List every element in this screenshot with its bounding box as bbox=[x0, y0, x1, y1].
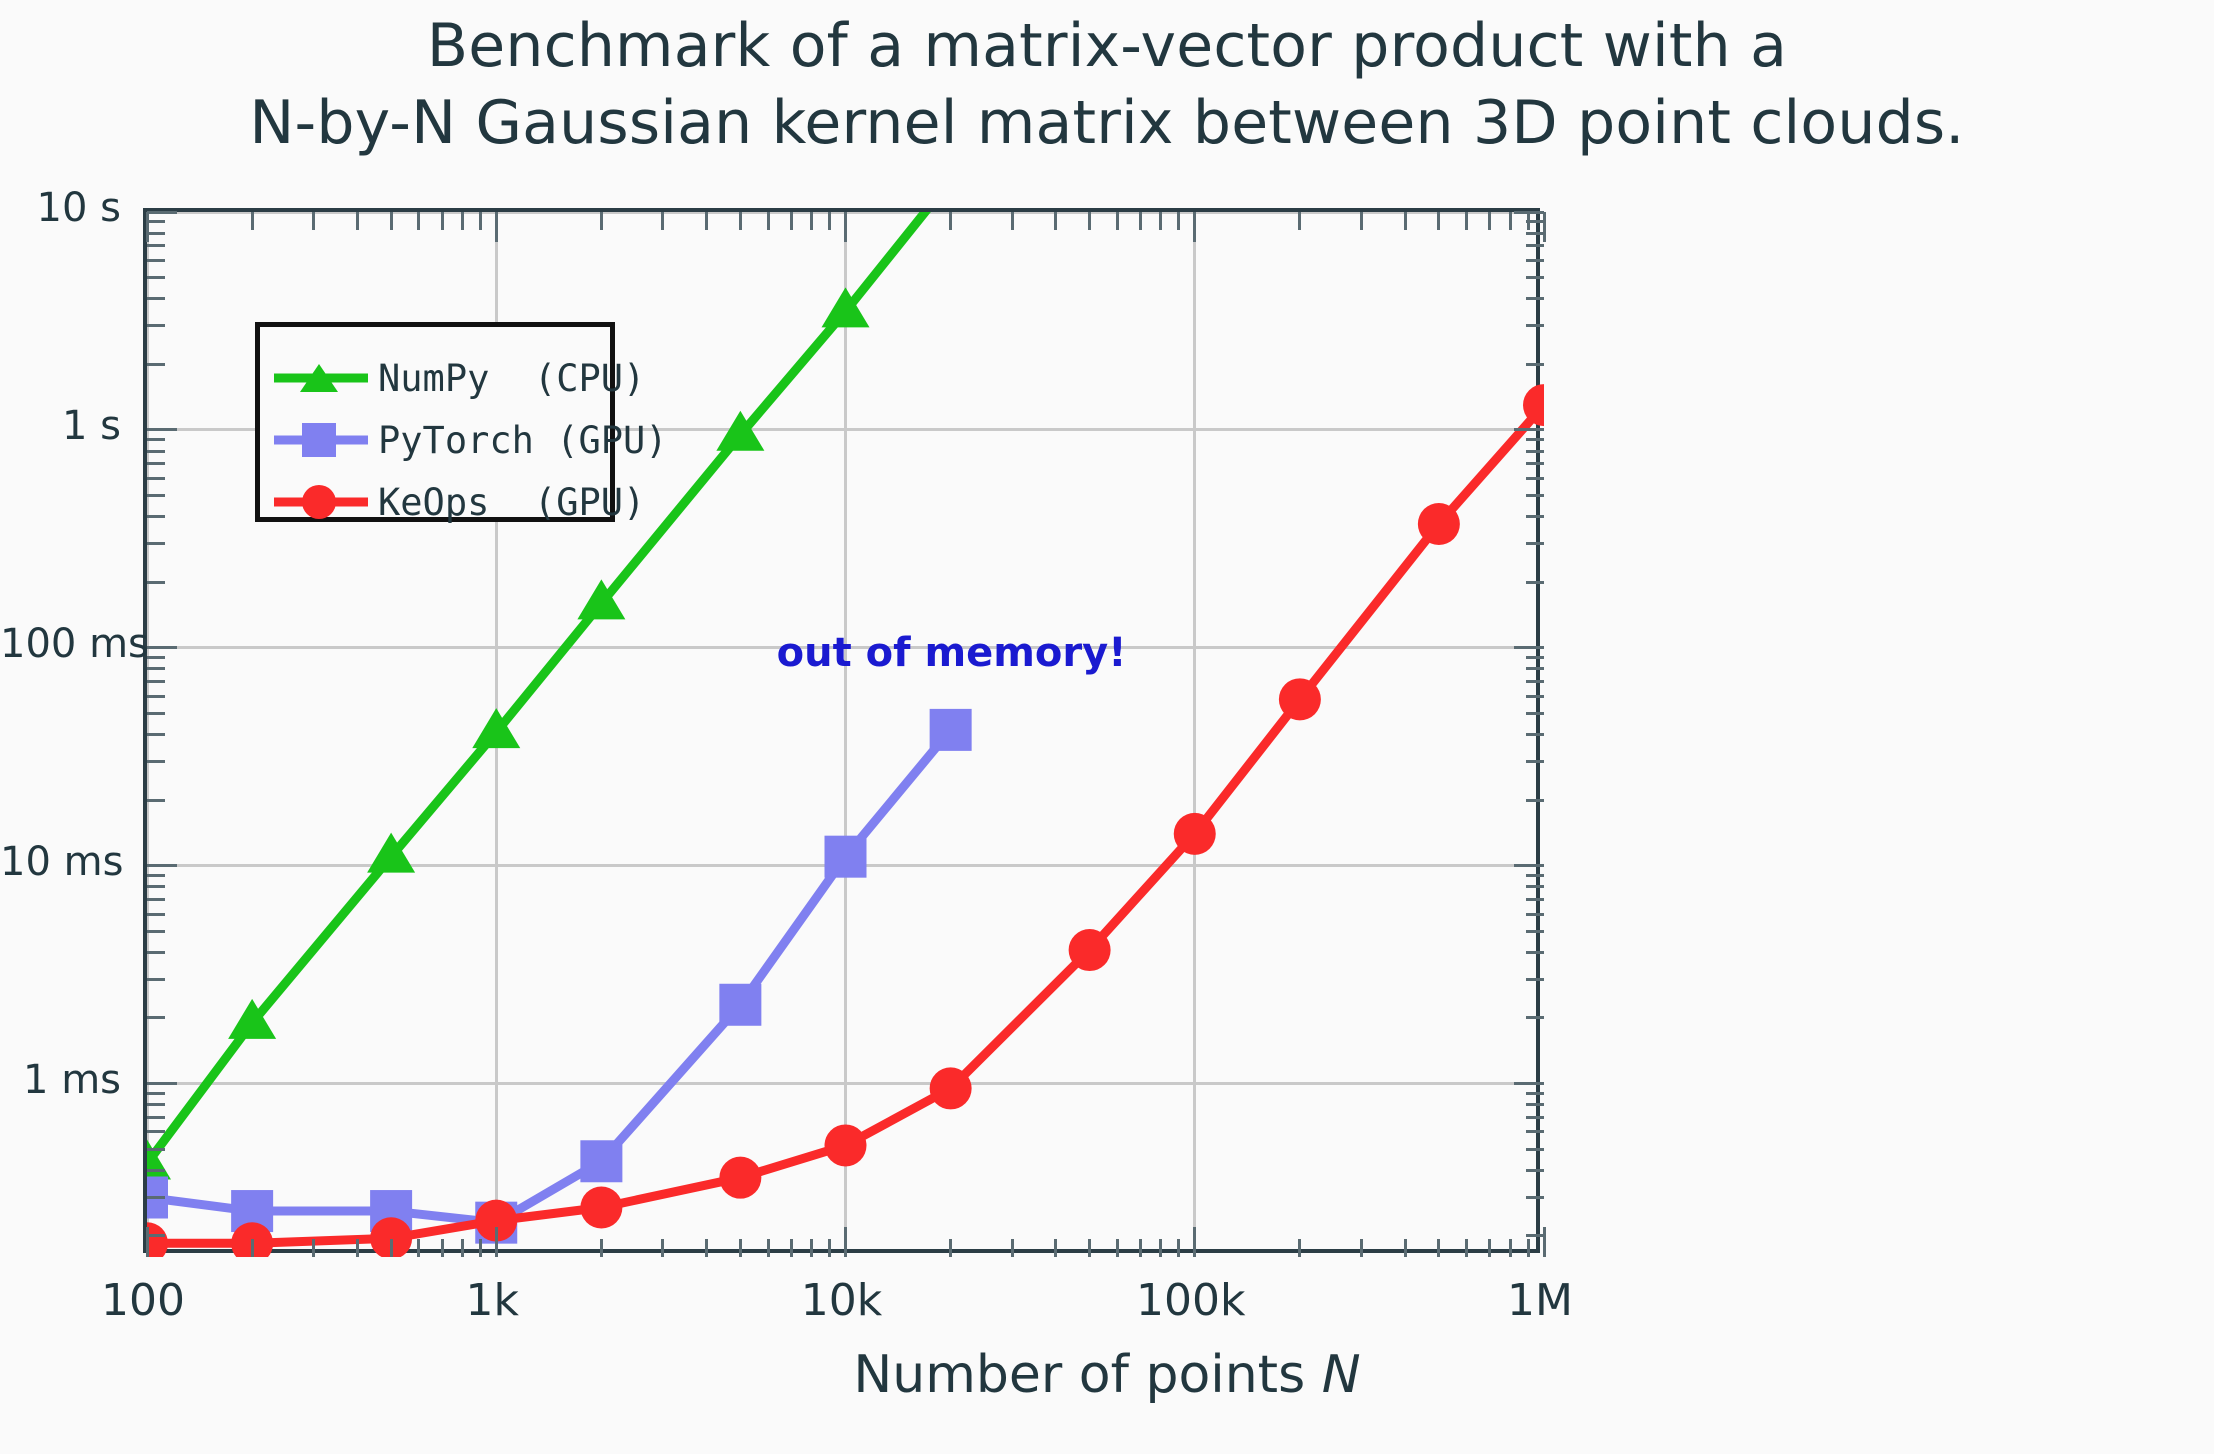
axis-tick bbox=[1526, 1116, 1544, 1119]
axis-tick bbox=[147, 733, 165, 736]
axis-tick bbox=[767, 212, 770, 230]
data-point-marker bbox=[1418, 503, 1460, 545]
axis-tick bbox=[147, 1196, 165, 1199]
axis-tick bbox=[146, 1227, 149, 1257]
axis-tick bbox=[1526, 978, 1544, 981]
axis-tick bbox=[1526, 450, 1544, 453]
axis-tick bbox=[1465, 212, 1468, 230]
axis-tick bbox=[1526, 276, 1544, 279]
axis-tick bbox=[1526, 515, 1544, 518]
axis-tick bbox=[251, 212, 254, 230]
axis-tick bbox=[1526, 760, 1544, 763]
axis-tick bbox=[147, 438, 165, 441]
x-tick-label: 1M bbox=[1507, 1275, 1573, 1326]
axis-tick bbox=[356, 212, 359, 230]
data-point-marker bbox=[719, 984, 761, 1026]
axis-tick bbox=[147, 874, 165, 877]
axis-tick bbox=[1526, 656, 1544, 659]
axis-tick bbox=[1360, 212, 1363, 230]
data-point-marker bbox=[1279, 678, 1321, 720]
axis-tick bbox=[828, 1239, 831, 1257]
data-point-marker bbox=[927, 156, 975, 196]
y-tick-label: 10 s bbox=[0, 185, 121, 231]
axis-tick bbox=[1054, 212, 1057, 230]
axis-tick bbox=[147, 799, 165, 802]
axis-tick bbox=[147, 667, 165, 670]
data-point-marker bbox=[580, 1186, 622, 1228]
axis-tick bbox=[1088, 212, 1091, 230]
axis-tick bbox=[417, 1239, 420, 1257]
axis-tick bbox=[705, 1239, 708, 1257]
axis-tick bbox=[1526, 363, 1544, 366]
axis-tick bbox=[949, 212, 952, 230]
axis-tick bbox=[1526, 667, 1544, 670]
axis-tick bbox=[1526, 462, 1544, 465]
axis-tick bbox=[1526, 244, 1544, 247]
axis-tick bbox=[1526, 542, 1544, 545]
axis-tick bbox=[147, 712, 165, 715]
axis-tick bbox=[1011, 212, 1014, 230]
axis-tick bbox=[1159, 212, 1162, 230]
axis-tick bbox=[251, 1239, 254, 1257]
data-point-marker bbox=[1069, 929, 1111, 971]
data-point-marker bbox=[930, 709, 972, 751]
data-point-marker bbox=[580, 1140, 622, 1182]
axis-tick bbox=[417, 212, 420, 230]
data-point-marker bbox=[719, 1157, 761, 1199]
axis-tick bbox=[661, 212, 664, 230]
axis-tick bbox=[147, 462, 165, 465]
axis-tick bbox=[844, 1227, 847, 1257]
legend-item-pytorch[interactable]: PyTorch (GPU) bbox=[260, 409, 610, 471]
axis-tick bbox=[147, 680, 165, 683]
axis-tick bbox=[1526, 930, 1544, 933]
axis-tick bbox=[1526, 297, 1544, 300]
axis-tick bbox=[600, 212, 603, 230]
x-axis-title-symbol: N bbox=[1322, 1345, 1361, 1405]
legend-swatch bbox=[260, 347, 378, 409]
axis-tick bbox=[1526, 438, 1544, 441]
axis-tick bbox=[1543, 212, 1546, 242]
axis-tick bbox=[147, 885, 165, 888]
axis-tick bbox=[390, 1239, 393, 1257]
axis-tick bbox=[1526, 494, 1544, 497]
axis-tick bbox=[1543, 1227, 1546, 1257]
axis-tick bbox=[441, 1239, 444, 1257]
axis-tick bbox=[147, 244, 165, 247]
triangle-marker-icon bbox=[300, 364, 338, 392]
axis-tick bbox=[1514, 428, 1544, 431]
legend-swatch bbox=[260, 471, 378, 533]
axis-tick bbox=[1177, 212, 1180, 230]
axis-tick bbox=[147, 1148, 165, 1151]
legend-label: PyTorch (GPU) bbox=[378, 419, 668, 462]
axis-tick bbox=[147, 211, 177, 214]
axis-tick bbox=[495, 1227, 498, 1257]
axis-tick bbox=[1526, 712, 1544, 715]
axis-tick bbox=[147, 363, 165, 366]
data-point-marker bbox=[1174, 813, 1216, 855]
axis-tick bbox=[810, 212, 813, 230]
axis-tick bbox=[147, 276, 165, 279]
axis-tick bbox=[1488, 212, 1491, 230]
axis-tick bbox=[147, 1234, 165, 1237]
axis-tick bbox=[1437, 1239, 1440, 1257]
axis-tick bbox=[147, 1169, 165, 1172]
axis-tick bbox=[312, 212, 315, 230]
axis-tick bbox=[147, 930, 165, 933]
axis-tick bbox=[1527, 212, 1530, 230]
axis-tick bbox=[600, 1239, 603, 1257]
axis-tick bbox=[147, 913, 165, 916]
x-axis-title: Number of points N bbox=[0, 1345, 2214, 1405]
axis-tick bbox=[1404, 212, 1407, 230]
axis-tick bbox=[844, 212, 847, 242]
axis-tick bbox=[1116, 212, 1119, 230]
legend[interactable]: NumPy (CPU)PyTorch (GPU)KeOps (GPU) bbox=[255, 322, 615, 522]
axis-tick bbox=[147, 494, 165, 497]
axis-tick bbox=[390, 212, 393, 230]
axis-tick bbox=[312, 1239, 315, 1257]
axis-tick bbox=[661, 1239, 664, 1257]
axis-tick bbox=[1526, 1103, 1544, 1106]
axis-tick bbox=[147, 259, 165, 262]
axis-tick bbox=[1526, 477, 1544, 480]
axis-tick bbox=[495, 212, 498, 242]
axis-tick bbox=[356, 1239, 359, 1257]
axis-tick bbox=[1526, 885, 1544, 888]
y-tick-label: 1 ms bbox=[0, 1057, 121, 1103]
axis-tick bbox=[1465, 1239, 1468, 1257]
axis-tick bbox=[1526, 1130, 1544, 1133]
axis-tick bbox=[1514, 1082, 1544, 1085]
legend-swatch bbox=[260, 409, 378, 471]
x-tick-label: 1k bbox=[466, 1275, 519, 1326]
axis-tick bbox=[790, 1239, 793, 1257]
axis-tick bbox=[147, 656, 165, 659]
axis-tick bbox=[705, 212, 708, 230]
axis-tick bbox=[1298, 1239, 1301, 1257]
axis-tick bbox=[147, 864, 177, 867]
axis-tick bbox=[147, 951, 165, 954]
axis-tick bbox=[1526, 799, 1544, 802]
axis-tick bbox=[1526, 232, 1544, 235]
axis-tick bbox=[1514, 864, 1544, 867]
axis-tick bbox=[1088, 1239, 1091, 1257]
axis-tick bbox=[1526, 874, 1544, 877]
axis-tick bbox=[147, 450, 165, 453]
axis-tick bbox=[1526, 581, 1544, 584]
axis-tick bbox=[147, 1116, 165, 1119]
axis-tick bbox=[147, 428, 177, 431]
axis-tick bbox=[147, 646, 177, 649]
axis-tick bbox=[147, 1016, 165, 1019]
axis-tick bbox=[1488, 1239, 1491, 1257]
data-point-marker bbox=[930, 1067, 972, 1109]
axis-tick bbox=[1514, 646, 1544, 649]
axis-tick bbox=[1404, 1239, 1407, 1257]
axis-tick bbox=[1526, 324, 1544, 327]
axis-tick bbox=[147, 1130, 165, 1133]
axis-tick bbox=[1011, 1239, 1014, 1257]
data-point-marker bbox=[1523, 384, 1565, 426]
y-tick-label: 1 s bbox=[0, 403, 121, 449]
axis-tick bbox=[1526, 1016, 1544, 1019]
axis-tick bbox=[1526, 695, 1544, 698]
axis-tick bbox=[147, 542, 165, 545]
axis-tick bbox=[441, 212, 444, 230]
axis-tick bbox=[1298, 212, 1301, 230]
data-point-marker bbox=[825, 836, 867, 878]
axis-tick bbox=[147, 297, 165, 300]
square-marker-icon bbox=[302, 423, 336, 457]
y-tick-label: 100 ms bbox=[0, 621, 121, 667]
axis-tick bbox=[1526, 898, 1544, 901]
x-tick-label: 100 bbox=[101, 1275, 185, 1326]
axis-tick bbox=[1437, 212, 1440, 230]
axis-tick bbox=[1526, 951, 1544, 954]
x-tick-label: 100k bbox=[1136, 1275, 1245, 1326]
chart-title: Benchmark of a matrix-vector product wit… bbox=[0, 8, 2214, 162]
legend-label: NumPy (CPU) bbox=[378, 357, 645, 400]
axis-tick bbox=[147, 220, 165, 223]
axis-tick bbox=[739, 1239, 742, 1257]
axis-tick bbox=[479, 1239, 482, 1257]
x-axis-title-text: Number of points bbox=[853, 1345, 1321, 1405]
axis-tick bbox=[147, 1082, 177, 1085]
axis-tick bbox=[1193, 212, 1196, 242]
legend-label: KeOps (GPU) bbox=[378, 481, 645, 524]
axis-tick bbox=[1526, 1092, 1544, 1095]
axis-tick bbox=[1193, 1227, 1196, 1257]
axis-tick bbox=[1526, 913, 1544, 916]
axis-tick bbox=[147, 898, 165, 901]
axis-tick bbox=[1159, 1239, 1162, 1257]
axis-tick bbox=[1139, 212, 1142, 230]
axis-tick bbox=[1526, 733, 1544, 736]
axis-tick bbox=[146, 212, 149, 242]
axis-tick bbox=[1509, 1239, 1512, 1257]
axis-tick bbox=[1526, 680, 1544, 683]
axis-tick bbox=[949, 1239, 952, 1257]
axis-tick bbox=[739, 212, 742, 230]
axis-tick bbox=[1509, 212, 1512, 230]
axis-tick bbox=[1526, 259, 1544, 262]
axis-tick bbox=[147, 978, 165, 981]
axis-tick bbox=[1054, 1239, 1057, 1257]
axis-tick bbox=[147, 232, 165, 235]
axis-tick bbox=[767, 1239, 770, 1257]
legend-item-numpy[interactable]: NumPy (CPU) bbox=[260, 347, 610, 409]
axis-tick bbox=[1526, 1169, 1544, 1172]
axis-tick bbox=[1526, 1234, 1544, 1237]
axis-tick bbox=[1177, 1239, 1180, 1257]
axis-tick bbox=[1527, 1239, 1530, 1257]
axis-tick bbox=[479, 212, 482, 230]
axis-tick bbox=[147, 695, 165, 698]
axis-tick bbox=[147, 581, 165, 584]
axis-tick bbox=[147, 1103, 165, 1106]
data-point-marker bbox=[825, 1124, 867, 1166]
axis-tick bbox=[1116, 1239, 1119, 1257]
y-tick-label: 10 ms bbox=[0, 839, 121, 885]
axis-tick bbox=[1526, 1148, 1544, 1151]
axis-tick bbox=[147, 477, 165, 480]
out-of-memory-annotation: out of memory! bbox=[777, 630, 1127, 676]
axis-tick bbox=[147, 1092, 165, 1095]
axis-tick bbox=[147, 760, 165, 763]
axis-tick bbox=[1360, 1239, 1363, 1257]
legend-item-keops[interactable]: KeOps (GPU) bbox=[260, 471, 610, 533]
axis-tick bbox=[461, 1239, 464, 1257]
axis-tick bbox=[828, 212, 831, 230]
axis-tick bbox=[1139, 1239, 1142, 1257]
axis-tick bbox=[461, 212, 464, 230]
x-tick-label: 10k bbox=[801, 1275, 882, 1326]
axis-tick bbox=[1526, 1196, 1544, 1199]
axis-tick bbox=[147, 515, 165, 518]
axis-tick bbox=[810, 1239, 813, 1257]
circle-marker-icon bbox=[302, 485, 336, 519]
axis-tick bbox=[790, 212, 793, 230]
axis-tick bbox=[147, 324, 165, 327]
